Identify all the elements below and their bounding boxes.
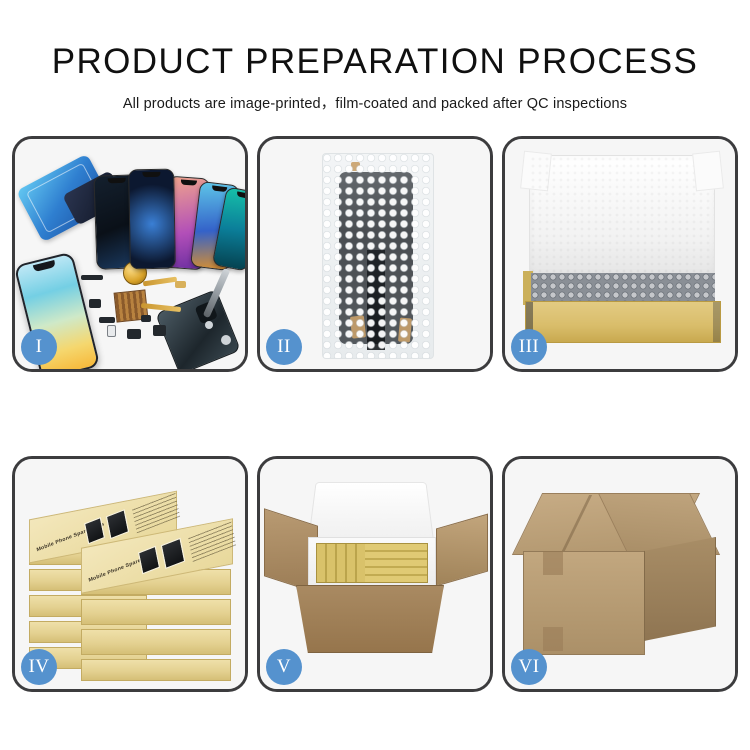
bubble-wrap-bag	[322, 153, 434, 359]
bubble-texture	[323, 154, 433, 358]
badge-step-4: IV	[21, 649, 57, 685]
small-part	[107, 325, 116, 337]
page-title: PRODUCT PREPARATION PROCESS	[0, 44, 750, 79]
process-steps-grid: I II III	[12, 136, 738, 692]
kraft-box-front	[525, 301, 721, 343]
flex-cable-1	[143, 277, 177, 287]
page-header: PRODUCT PREPARATION PROCESS All products…	[0, 0, 750, 113]
box-window-image	[138, 546, 160, 575]
stacked-box	[81, 629, 231, 655]
foam-texture	[530, 156, 714, 274]
process-step-panel-2[interactable]: II	[257, 136, 493, 372]
small-part	[81, 275, 103, 280]
process-step-panel-3[interactable]: III	[502, 136, 738, 372]
process-step-panel-4[interactable]: Mobile Phone Spare Parts Mobile Phone Sp…	[12, 456, 248, 692]
retail-box-stack: Mobile Phone Spare Parts Mobile Phone Sp…	[23, 477, 241, 677]
process-step-panel-5[interactable]: V	[257, 456, 493, 692]
stacked-box	[81, 599, 231, 625]
process-step-panel-1[interactable]: I	[12, 136, 248, 372]
notch-icon	[181, 180, 197, 186]
box-window-image	[106, 509, 129, 539]
stacked-box	[81, 659, 231, 681]
box-window-image	[161, 538, 185, 569]
small-part	[205, 321, 213, 329]
bubble-packed-contents	[531, 273, 715, 303]
notch-icon	[236, 191, 245, 199]
badge-step-3: III	[511, 329, 547, 365]
badge-step-2: II	[266, 329, 302, 365]
small-part	[221, 335, 231, 345]
small-part	[153, 325, 166, 336]
small-part	[99, 317, 115, 323]
box-spec-lines	[188, 521, 236, 562]
carton-body	[296, 585, 444, 653]
phone-back-housing	[155, 289, 241, 369]
box-spec-lines	[132, 492, 180, 533]
page-subtitle: All products are image-printed，film-coat…	[0, 92, 750, 113]
notch-icon	[142, 172, 160, 177]
foam-lid-open	[308, 482, 434, 542]
badge-step-6: VI	[511, 649, 547, 685]
display-unit-2	[128, 169, 176, 270]
badge-step-5: V	[266, 649, 302, 685]
carton-front-face	[523, 551, 645, 655]
white-foam-lid	[529, 155, 715, 275]
carton-tape-lower	[543, 627, 563, 651]
small-part	[89, 299, 101, 308]
small-part	[141, 315, 151, 322]
carton-tape-upper	[543, 551, 563, 575]
phone-display-fan	[95, 149, 245, 269]
small-part	[127, 329, 141, 339]
notch-icon	[212, 185, 228, 192]
badge-step-1: I	[21, 329, 57, 365]
notch-icon	[108, 178, 126, 184]
process-step-panel-6[interactable]: VI	[502, 456, 738, 692]
small-part	[175, 281, 186, 288]
carton-side-face	[644, 537, 716, 641]
carton-flap-right	[436, 514, 488, 587]
packed-yellow-boxes	[316, 543, 428, 583]
